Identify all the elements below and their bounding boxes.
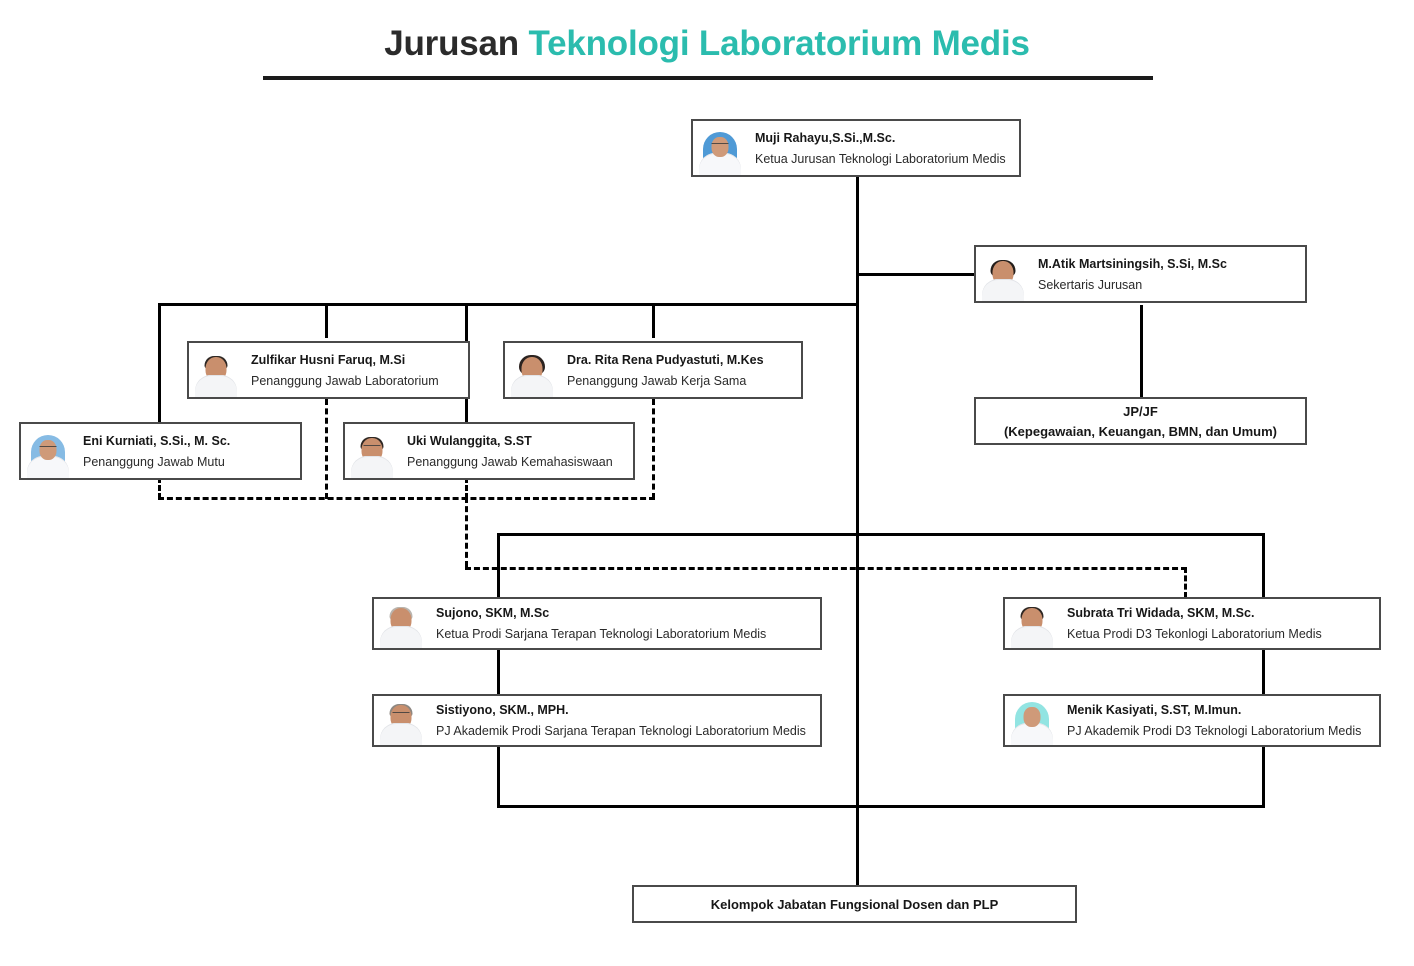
node-role: Ketua Prodi Sarjana Terapan Teknologi La… — [436, 626, 812, 642]
avatar-zulfikar-husni-faruq — [189, 343, 243, 397]
connector-drop-pj-kerja-sama — [652, 303, 655, 338]
node-kelompok-fungsional[interactable]: Kelompok Jabatan Fungsional Dosen dan PL… — [632, 885, 1077, 923]
node-role: PJ Akademik Prodi D3 Teknologi Laborator… — [1067, 723, 1371, 739]
node-name: Uki Wulanggita, S.ST — [407, 433, 625, 449]
node-name: M.Atik Martsiningsih, S.Si, M.Sc — [1038, 256, 1297, 272]
connector-dashed-down-to-kaprodi-bus — [465, 497, 468, 567]
node-name: Eni Kurniati, S.Si., M. Sc. — [83, 433, 292, 449]
avatar-sistiyono — [374, 696, 428, 745]
connector-kaprodi-d3-to-pj — [1262, 648, 1265, 695]
node-name: Sistiyono, SKM., MPH. — [436, 702, 812, 718]
connector-sekertaris-to-jpjf — [1140, 305, 1143, 398]
node-role: PJ Akademik Prodi Sarjana Terapan Teknol… — [436, 723, 812, 739]
connector-spine-mid — [856, 273, 859, 537]
node-role: (Kepegawaian, Keuangan, BMN, dan Umum) — [982, 422, 1299, 441]
node-name: Zulfikar Husni Faruq, M.Si — [251, 352, 460, 368]
node-name: JP/JF — [982, 402, 1299, 421]
node-kaprodi-sarjana-terapan[interactable]: Sujono, SKM, M.Sc Ketua Prodi Sarjana Te… — [372, 597, 822, 650]
node-name: Dra. Rita Rena Pudyastuti, M.Kes — [567, 352, 793, 368]
avatar-eni-kurniati — [21, 424, 75, 478]
page-title-prefix: Jurusan — [384, 24, 528, 63]
node-role: Penanggung Jawab Laboratorium — [251, 373, 460, 389]
node-pj-kerja-sama[interactable]: Dra. Rita Rena Pudyastuti, M.Kes Penangg… — [503, 341, 803, 399]
node-pj-laboratorium[interactable]: Zulfikar Husni Faruq, M.Si Penanggung Ja… — [187, 341, 470, 399]
node-role: Penanggung Jawab Kerja Sama — [567, 373, 793, 389]
node-pj-akademik-d3[interactable]: Menik Kasiyati, S.ST, M.Imun. PJ Akademi… — [1003, 694, 1381, 747]
avatar-subrata-tri-widada — [1005, 599, 1059, 648]
node-name: Subrata Tri Widada, SKM, M.Sc. — [1067, 605, 1371, 621]
connector-bus-level2 — [158, 303, 858, 306]
page-title-area: Jurusan Teknologi Laboratorium Medis — [0, 22, 1414, 66]
connector-drop-kaprodi-sarjana — [497, 533, 500, 598]
node-pj-akademik-sarjana-terapan[interactable]: Sistiyono, SKM., MPH. PJ Akademik Prodi … — [372, 694, 822, 747]
node-role: Penanggung Jawab Mutu — [83, 454, 292, 470]
title-underline-rule — [263, 76, 1153, 80]
connector-dashed-pj-kemahasiswaan — [465, 477, 468, 499]
connector-dashed-drop-kaprodi-d3 — [1184, 567, 1187, 598]
connector-bus-kaprodi — [497, 533, 1265, 536]
connector-pj-d3-to-bottom — [1262, 745, 1265, 808]
node-role: Sekertaris Jurusan — [1038, 277, 1297, 293]
avatar-uki-wulanggita — [345, 424, 399, 478]
node-ketua-jurusan[interactable]: Muji Rahayu,S.Si.,M.Sc. Ketua Jurusan Te… — [691, 119, 1021, 177]
node-kaprodi-d3[interactable]: Subrata Tri Widada, SKM, M.Sc. Ketua Pro… — [1003, 597, 1381, 650]
connector-bus-bottom — [497, 805, 1265, 808]
connector-to-sekertaris — [856, 273, 975, 276]
node-jp-jf[interactable]: JP/JF (Kepegawaian, Keuangan, BMN, dan U… — [974, 397, 1307, 445]
node-name: Menik Kasiyati, S.ST, M.Imun. — [1067, 702, 1371, 718]
connector-pj-sarjana-to-bottom — [497, 745, 500, 808]
connector-dashed-pj-kerja-sama — [652, 399, 655, 499]
avatar-menik-kasiyati — [1005, 696, 1059, 745]
connector-kaprodi-sarjana-to-pj — [497, 648, 500, 695]
node-pj-mutu[interactable]: Eni Kurniati, S.Si., M. Sc. Penanggung J… — [19, 422, 302, 480]
node-pj-kemahasiswaan[interactable]: Uki Wulanggita, S.ST Penanggung Jawab Ke… — [343, 422, 635, 480]
avatar-rita-rena-pudyastuti — [505, 343, 559, 397]
connector-dashed-bus-pj — [158, 497, 655, 500]
node-role: Penanggung Jawab Kemahasiswaan — [407, 454, 625, 470]
avatar-muji-rahayu — [693, 121, 747, 175]
node-name: Sujono, SKM, M.Sc — [436, 605, 812, 621]
connector-spine-top — [856, 176, 859, 278]
connector-spine-lower — [856, 533, 859, 808]
connector-dashed-pj-mutu — [158, 477, 161, 499]
node-name: Kelompok Jabatan Fungsional Dosen dan PL… — [640, 895, 1069, 914]
connector-drop-pj-mutu — [158, 303, 161, 428]
org-chart-canvas: Jurusan Teknologi Laboratorium Medis — [0, 0, 1414, 966]
connector-dashed-bus-kaprodi-d3 — [465, 567, 1187, 570]
node-role: Ketua Prodi D3 Tekonlogi Laboratorium Me… — [1067, 626, 1371, 642]
avatar-m-atik-martsiningsih — [976, 247, 1030, 301]
node-name: Muji Rahayu,S.Si.,M.Sc. — [755, 130, 1011, 146]
avatar-sujono — [374, 599, 428, 648]
node-sekertaris-jurusan[interactable]: M.Atik Martsiningsih, S.Si, M.Sc Sekerta… — [974, 245, 1307, 303]
page-title: Jurusan Teknologi Laboratorium Medis — [0, 22, 1414, 66]
connector-spine-bottom — [856, 805, 859, 887]
connector-drop-pj-laboratorium — [325, 303, 328, 338]
page-title-accent: Teknologi Laboratorium Medis — [528, 24, 1029, 63]
connector-dashed-pj-laboratorium — [325, 399, 328, 499]
node-role: Ketua Jurusan Teknologi Laboratorium Med… — [755, 151, 1011, 167]
connector-drop-kaprodi-d3 — [1262, 533, 1265, 598]
